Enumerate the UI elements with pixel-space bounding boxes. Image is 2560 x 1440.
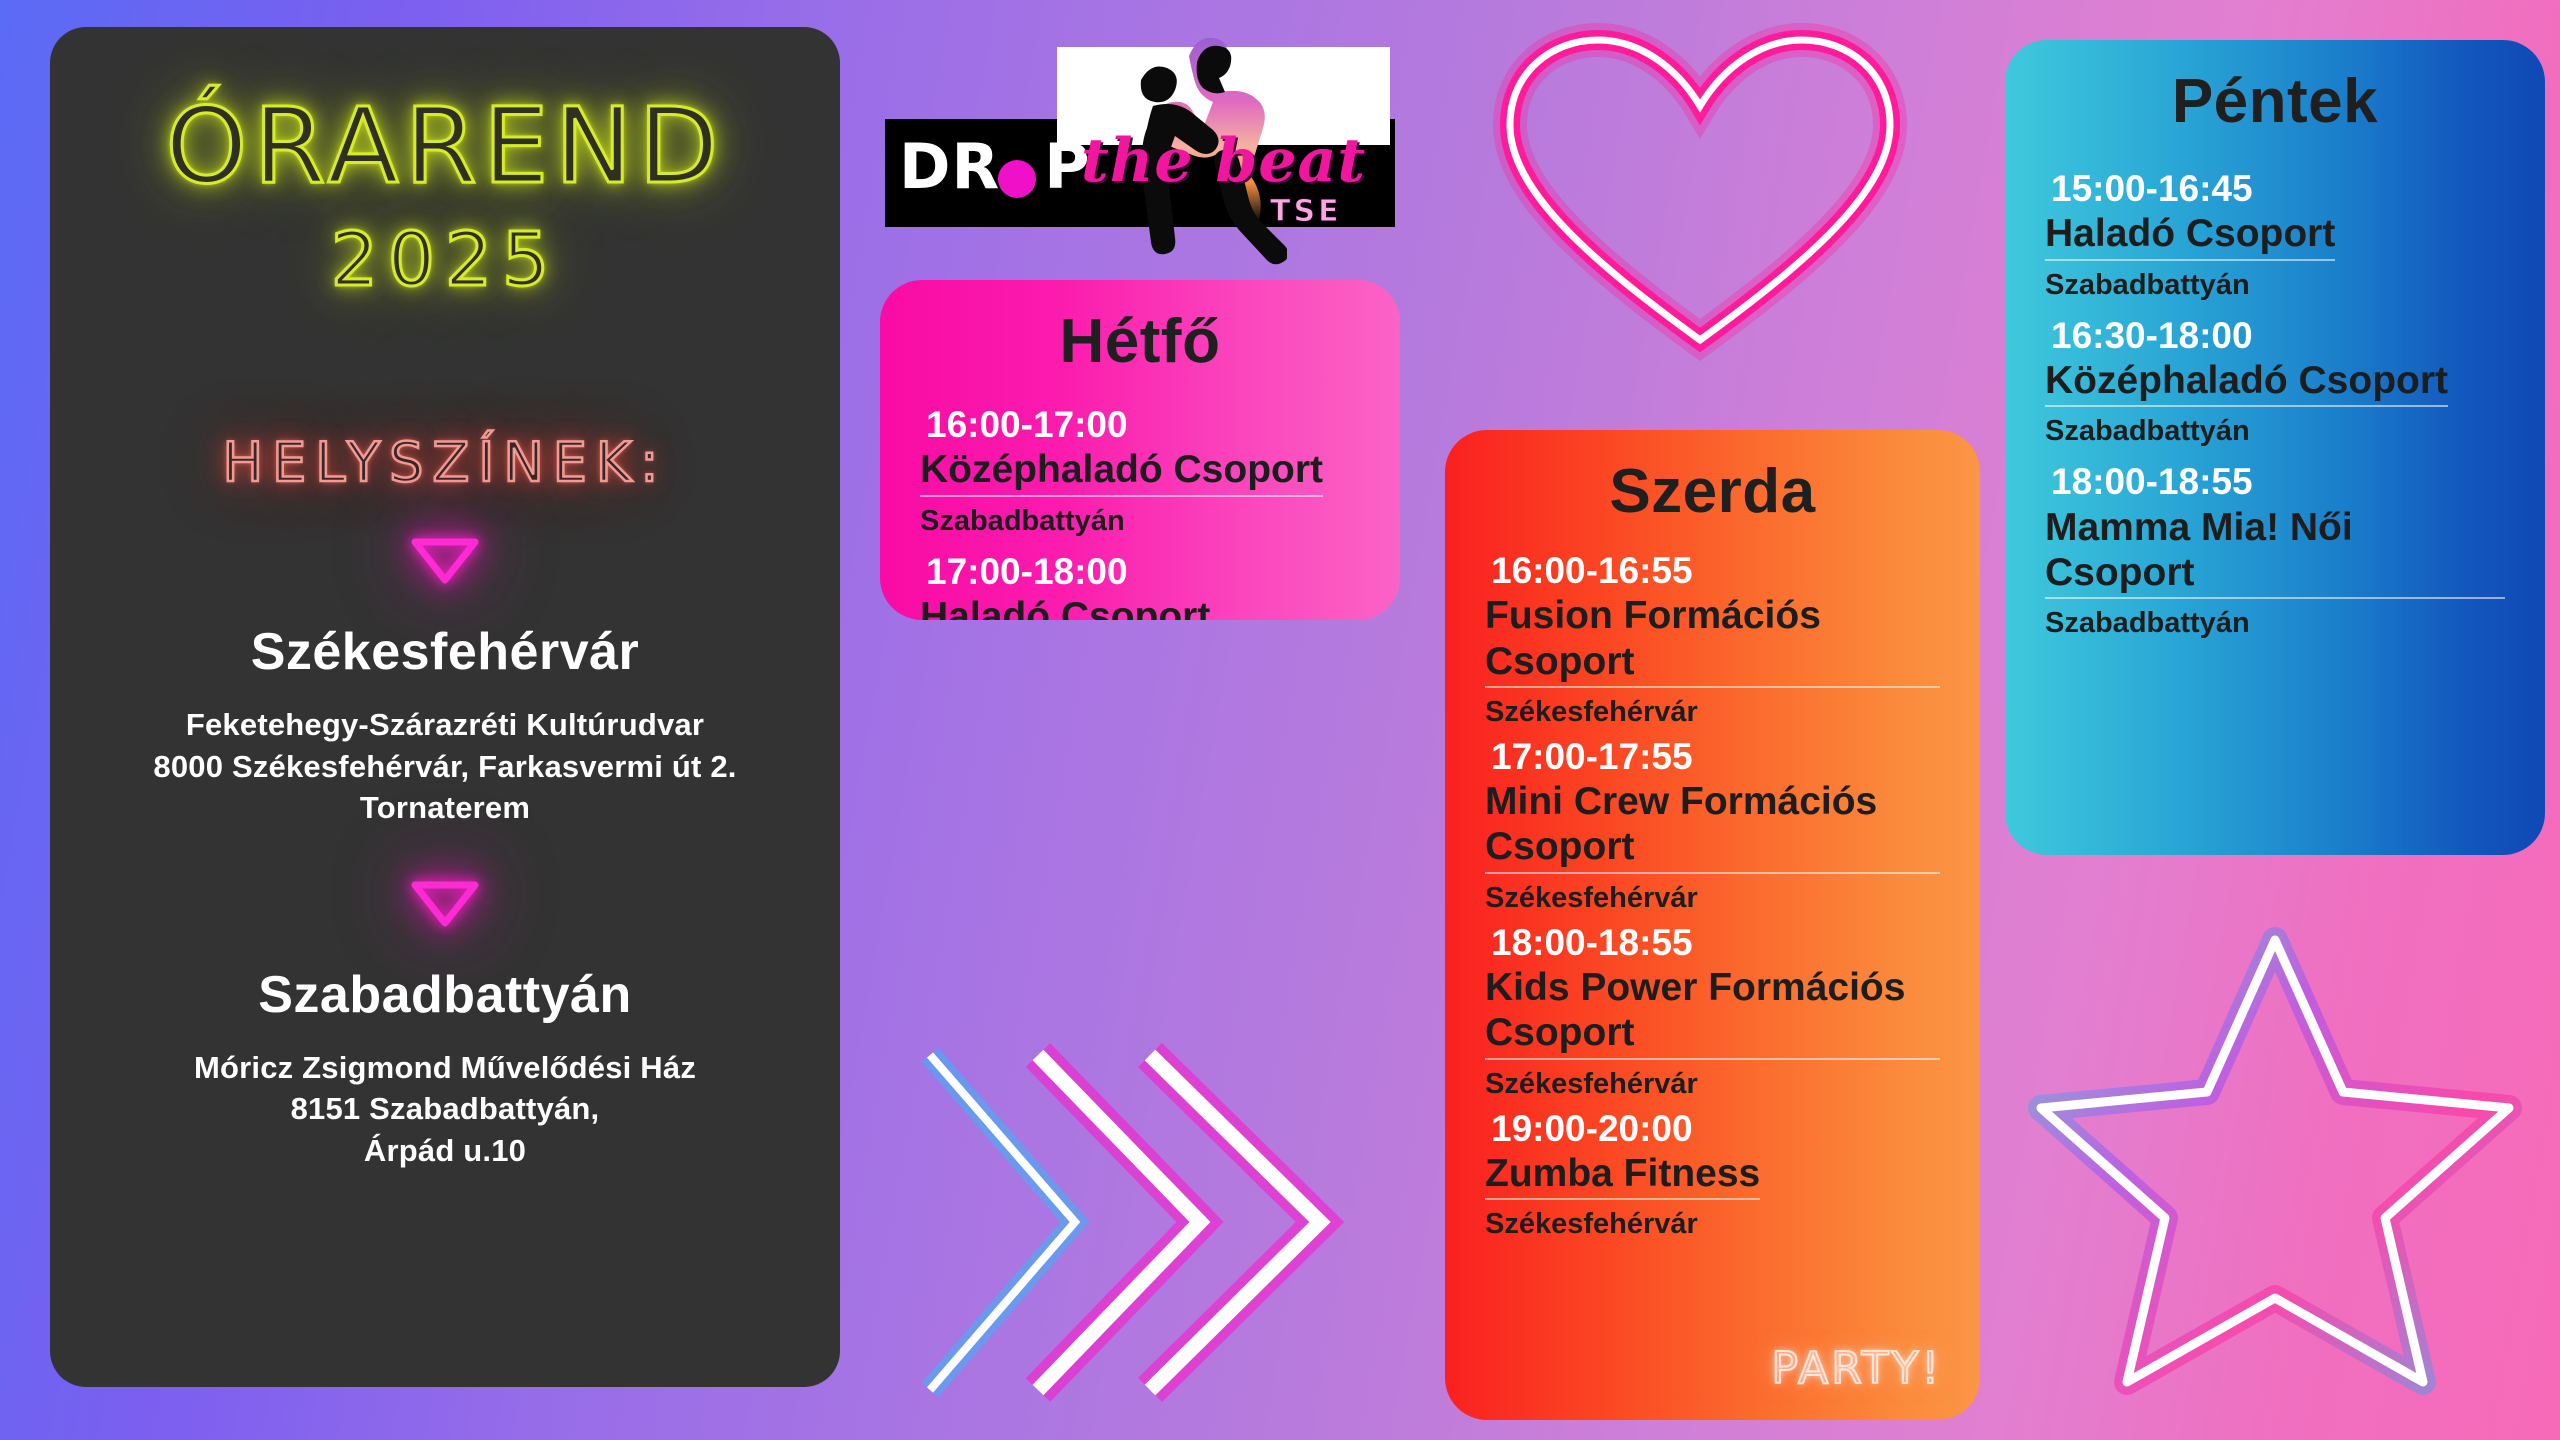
schedule-slot[interactable]: 17:00-18:00 Haladó Csoport Szabadbattyán [920, 550, 1360, 620]
day-card-szerda[interactable]: Szerda 16:00-16:55 Fusion Formációs Csop… [1445, 430, 1980, 1420]
poster-year: 2025 [50, 217, 840, 303]
venue-address-line: Tornaterem [50, 787, 840, 829]
schedule-slot[interactable]: 18:00-18:55 Mamma Mia! Női Csoport Szaba… [2045, 460, 2505, 640]
schedule-slot[interactable]: 18:00-18:55 Kids Power Formációs Csoport… [1485, 921, 1940, 1101]
slot-time: 18:00-18:55 [1485, 921, 1940, 965]
triangle-down-icon [410, 881, 480, 927]
double-chevron-icon [900, 1010, 1380, 1430]
slot-location: Székesfehérvár [1485, 1208, 1940, 1241]
slot-location: Székesfehérvár [1485, 882, 1940, 915]
day-title: Szerda [1485, 456, 1940, 527]
slot-time: 15:00-16:45 [2045, 167, 2505, 211]
logo-dr: DR [899, 130, 1000, 203]
star-icon [1975, 900, 2555, 1440]
poster-title: ÓRAREND [50, 85, 840, 207]
slot-time: 17:00-17:55 [1485, 735, 1940, 779]
venue-address-line: Árpád u.10 [50, 1130, 840, 1172]
venue-address-line: 8151 Szabadbattyán, [50, 1088, 840, 1130]
slot-class-name: Haladó Csoport [920, 594, 1210, 620]
party-badge: PARTY! [1771, 1343, 1942, 1394]
slot-class-name: Középhaladó Csoport [2045, 358, 2448, 407]
triangle-down-icon [410, 538, 480, 584]
day-card-pentek[interactable]: Péntek 15:00-16:45 Haladó Csoport Szabad… [2005, 40, 2545, 855]
slot-time: 18:00-18:55 [2045, 460, 2505, 504]
slot-location: Székesfehérvár [1485, 1068, 1940, 1101]
slot-class-name: Középhaladó Csoport [920, 447, 1323, 496]
venues-heading: HELYSZÍNEK: [50, 431, 840, 494]
logo-drop-text: DRP [899, 130, 1091, 203]
slot-class-name: Haladó Csoport [2045, 211, 2335, 260]
schedule-slot[interactable]: 16:00-17:00 Középhaladó Csoport Szabadba… [920, 403, 1360, 538]
venue-city-1: Székesfehérvár [50, 622, 840, 682]
slot-time: 16:30-18:00 [2045, 314, 2505, 358]
slot-location: Szabadbattyán [2045, 415, 2505, 448]
venue-address-line: Móricz Zsigmond Művelődési Ház [50, 1047, 840, 1089]
day-card-hetfo[interactable]: Hétfő 16:00-17:00 Középhaladó Csoport Sz… [880, 280, 1400, 620]
venue-city-2: Szabadbattyán [50, 965, 840, 1025]
slot-time: 19:00-20:00 [1485, 1107, 1940, 1151]
info-panel: ÓRAREND 2025 HELYSZÍNEK: Székesfehérvár … [50, 27, 840, 1387]
schedule-slot[interactable]: 16:00-16:55 Fusion Formációs Csoport Szé… [1485, 549, 1940, 729]
slot-location: Székesfehérvár [1485, 696, 1940, 729]
logo-dot-icon [998, 160, 1036, 198]
slot-class-name: Fusion Formációs Csoport [1485, 593, 1940, 687]
slot-time: 17:00-18:00 [920, 550, 1360, 594]
brand-logo: DRP the beat TSE [885, 42, 1395, 242]
heart-icon [1470, 10, 1930, 370]
schedule-slot[interactable]: 17:00-17:55 Mini Crew Formációs Csoport … [1485, 735, 1940, 915]
schedule-slot[interactable]: 19:00-20:00 Zumba Fitness Székesfehérvár [1485, 1107, 1940, 1242]
logo-tse-text: TSE [1270, 194, 1342, 229]
slot-location: Szabadbattyán [2045, 607, 2505, 640]
venue-address-line: 8000 Székesfehérvár, Farkasvermi út 2. [50, 746, 840, 788]
venue-address-1: Feketehegy-Szárazréti Kultúrudvar 8000 S… [50, 704, 840, 829]
logo-the-beat-text: the beat [1081, 126, 1366, 196]
triangle-down-icon-2 [50, 881, 840, 927]
venue-address-2: Móricz Zsigmond Művelődési Ház 8151 Szab… [50, 1047, 840, 1172]
slot-location: Szabadbattyán [2045, 269, 2505, 302]
day-title: Péntek [2045, 66, 2505, 137]
schedule-slot[interactable]: 15:00-16:45 Haladó Csoport Szabadbattyán [2045, 167, 2505, 302]
day-title: Hétfő [920, 306, 1360, 377]
triangle-down-icon-1 [50, 538, 840, 584]
slot-time: 16:00-17:00 [920, 403, 1360, 447]
slot-location: Szabadbattyán [920, 505, 1360, 538]
venue-address-line: Feketehegy-Szárazréti Kultúrudvar [50, 704, 840, 746]
slot-time: 16:00-16:55 [1485, 549, 1940, 593]
schedule-slot[interactable]: 16:30-18:00 Középhaladó Csoport Szabadba… [2045, 314, 2505, 449]
slot-class-name: Kids Power Formációs Csoport [1485, 965, 1940, 1059]
slot-class-name: Mini Crew Formációs Csoport [1485, 779, 1940, 873]
slot-class-name: Zumba Fitness [1485, 1151, 1760, 1200]
slot-class-name: Mamma Mia! Női Csoport [2045, 505, 2505, 599]
